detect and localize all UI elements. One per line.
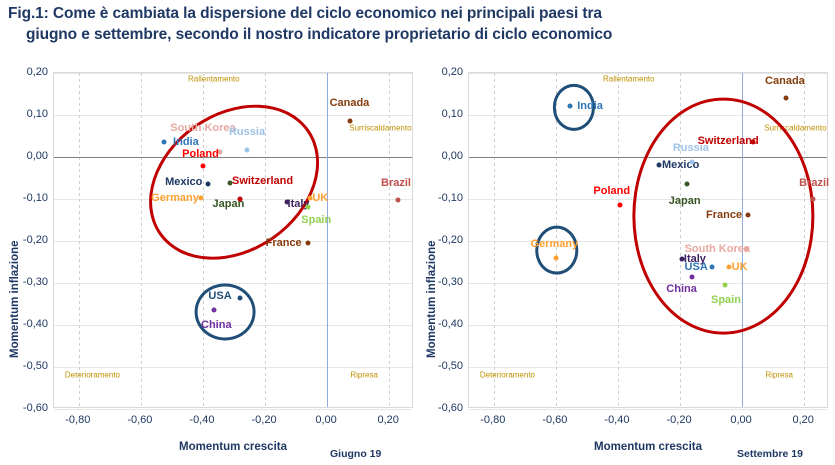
y-tick-label-settembre: -0,20 [417, 234, 463, 246]
data-point-france[interactable] [305, 241, 310, 246]
data-label-france: France [706, 209, 742, 221]
data-label-japan: Japan [669, 195, 701, 207]
data-label-spain: Spain [301, 214, 331, 226]
data-point-russia[interactable] [689, 160, 694, 165]
gridline-horizontal [469, 115, 827, 116]
y-tick-label-giugno: -0,30 [2, 276, 48, 288]
gridline-horizontal [54, 367, 412, 368]
data-label-brazil: Brazil [799, 177, 829, 189]
quadrant-label-top-left: Rallentamento [603, 74, 655, 83]
y-tick-label-giugno: 0,10 [2, 108, 48, 120]
data-label-india: India [173, 136, 199, 148]
data-point-germany[interactable] [553, 255, 558, 260]
figure-title-line-2: giugno e settembre, secondo il nostro in… [8, 25, 828, 46]
quadrant-label-bottom-left: Deterioramento [65, 371, 120, 380]
plot-wrapper-settembre: RallentamentoSurriscaldamentoDeteriorame… [417, 58, 835, 460]
quadrant-label-top-right: Surriscaldamento [764, 123, 826, 132]
x-tick-label-giugno: -0,40 [174, 414, 230, 426]
data-label-poland: Poland [593, 185, 630, 197]
data-point-usa[interactable] [709, 265, 714, 270]
gridline-vertical [79, 73, 80, 407]
data-label-india: India [577, 100, 603, 112]
data-point-mexico[interactable] [656, 162, 661, 167]
y-tick-label-settembre: -0,50 [417, 360, 463, 372]
chart-panel-giugno: RallentamentoSurriscaldamentoDeteriorame… [0, 58, 418, 460]
quadrant-label-bottom-right: Ripresa [350, 371, 378, 380]
zero-line-vertical [327, 73, 328, 407]
y-tick-label-settembre: -0,60 [417, 402, 463, 414]
data-label-china: China [201, 319, 232, 331]
data-label-poland: Poland [182, 148, 219, 160]
y-axis-title-giugno: Momentum inflazione [9, 240, 21, 358]
quadrant-label-top-left: Rallentamento [188, 74, 240, 83]
y-tick-label-giugno: 0,00 [2, 150, 48, 162]
data-point-switzerland[interactable] [237, 197, 242, 202]
data-point-mexico[interactable] [206, 182, 211, 187]
plot-area-settembre: RallentamentoSurriscaldamentoDeteriorame… [468, 72, 828, 408]
gridline-horizontal [469, 283, 827, 284]
x-tick-label-settembre: -0,40 [589, 414, 645, 426]
data-label-uk: UK [312, 192, 328, 204]
figure-title: Fig.1: Come è cambiata la dispersione de… [8, 4, 828, 46]
data-point-germany[interactable] [199, 196, 204, 201]
x-tick-label-giugno: -0,20 [236, 414, 292, 426]
x-tick-label-settembre: -0,60 [527, 414, 583, 426]
quadrant-label-bottom-right: Ripresa [765, 371, 793, 380]
data-point-poland[interactable] [200, 164, 205, 169]
data-label-canada: Canada [765, 75, 805, 87]
data-label-spain: Spain [711, 294, 741, 306]
x-tick-label-giugno: -0,80 [50, 414, 106, 426]
y-tick-label-giugno: -0,60 [2, 402, 48, 414]
data-point-japan[interactable] [684, 182, 689, 187]
gridline-vertical [494, 73, 495, 407]
data-point-brazil[interactable] [395, 197, 400, 202]
x-tick-label-giugno: 0,20 [360, 414, 416, 426]
quadrant-label-bottom-left: Deterioramento [480, 371, 535, 380]
gridline-horizontal [54, 241, 412, 242]
y-tick-label-giugno: 0,20 [2, 66, 48, 78]
data-label-switzerland: Switzerland [698, 135, 759, 147]
period-label-settembre: Settembre 19 [737, 448, 803, 460]
data-point-india[interactable] [162, 140, 167, 145]
gridline-horizontal [54, 283, 412, 284]
data-point-china[interactable] [690, 274, 695, 279]
gridline-vertical [680, 73, 681, 407]
data-point-spain[interactable] [723, 283, 728, 288]
quadrant-label-top-right: Surriscaldamento [349, 123, 411, 132]
gridline-horizontal [54, 325, 412, 326]
x-tick-label-settembre: -0,20 [651, 414, 707, 426]
data-point-canada[interactable] [783, 96, 788, 101]
data-point-canada[interactable] [348, 119, 353, 124]
y-axis-title-settembre: Momentum inflazione [426, 240, 438, 358]
x-tick-label-giugno: -0,60 [112, 414, 168, 426]
period-label-giugno: Giugno 19 [330, 448, 381, 460]
gridline-vertical [141, 73, 142, 407]
y-tick-label-settembre: -0,40 [417, 318, 463, 330]
zero-line-vertical [742, 73, 743, 407]
x-tick-label-settembre: 0,20 [775, 414, 831, 426]
zero-line-horizontal [54, 157, 412, 158]
y-tick-label-settembre: -0,10 [417, 192, 463, 204]
y-tick-label-settembre: 0,20 [417, 66, 463, 78]
x-tick-label-settembre: -0,80 [465, 414, 521, 426]
y-tick-label-giugno: -0,40 [2, 318, 48, 330]
figure-title-line-1: Fig.1: Come è cambiata la dispersione de… [8, 5, 602, 22]
y-tick-label-giugno: -0,10 [2, 192, 48, 204]
data-point-spain[interactable] [306, 204, 311, 209]
data-point-brazil[interactable] [811, 197, 816, 202]
data-point-poland[interactable] [617, 203, 622, 208]
gridline-horizontal [469, 199, 827, 200]
x-tick-label-settembre: 0,00 [713, 414, 769, 426]
data-label-usa: USA [208, 290, 231, 302]
plot-wrapper-giugno: RallentamentoSurriscaldamentoDeteriorame… [0, 58, 418, 460]
data-point-india[interactable] [567, 103, 572, 108]
data-point-china[interactable] [211, 308, 216, 313]
y-tick-label-giugno: -0,20 [2, 234, 48, 246]
y-tick-label-giugno: -0,50 [2, 360, 48, 372]
gridline-vertical [618, 73, 619, 407]
gridline-horizontal [469, 325, 827, 326]
data-label-south-korea: South Korea [170, 122, 235, 134]
chart-panel-settembre: RallentamentoSurriscaldamentoDeteriorame… [417, 58, 835, 460]
figure-root: Fig.1: Come è cambiata la dispersione de… [0, 0, 835, 465]
gridline-horizontal [54, 409, 412, 410]
data-label-france: France [266, 237, 302, 249]
y-tick-label-settembre: 0,00 [417, 150, 463, 162]
y-tick-label-settembre: 0,10 [417, 108, 463, 120]
zero-line-horizontal [469, 157, 827, 158]
gridline-horizontal [469, 241, 827, 242]
gridline-horizontal [469, 367, 827, 368]
data-label-germany: Germany [151, 192, 199, 204]
gridline-horizontal [54, 115, 412, 116]
data-label-brazil: Brazil [381, 177, 411, 189]
data-label-switzerland: Switzerland [232, 175, 293, 187]
data-point-france[interactable] [746, 212, 751, 217]
data-label-canada: Canada [330, 97, 370, 109]
data-label-uk: UK [732, 261, 748, 273]
y-tick-label-settembre: -0,30 [417, 276, 463, 288]
data-label-china: China [666, 283, 697, 295]
plot-area-giugno: RallentamentoSurriscaldamentoDeteriorame… [53, 72, 413, 408]
data-point-usa[interactable] [237, 295, 242, 300]
gridline-horizontal [469, 409, 827, 410]
data-label-usa: USA [685, 261, 708, 273]
data-label-germany: Germany [530, 238, 578, 250]
data-label-russia: Russia [229, 126, 265, 138]
x-tick-label-giugno: 0,00 [298, 414, 354, 426]
data-label-mexico: Mexico [165, 176, 202, 188]
data-point-russia[interactable] [245, 148, 250, 153]
